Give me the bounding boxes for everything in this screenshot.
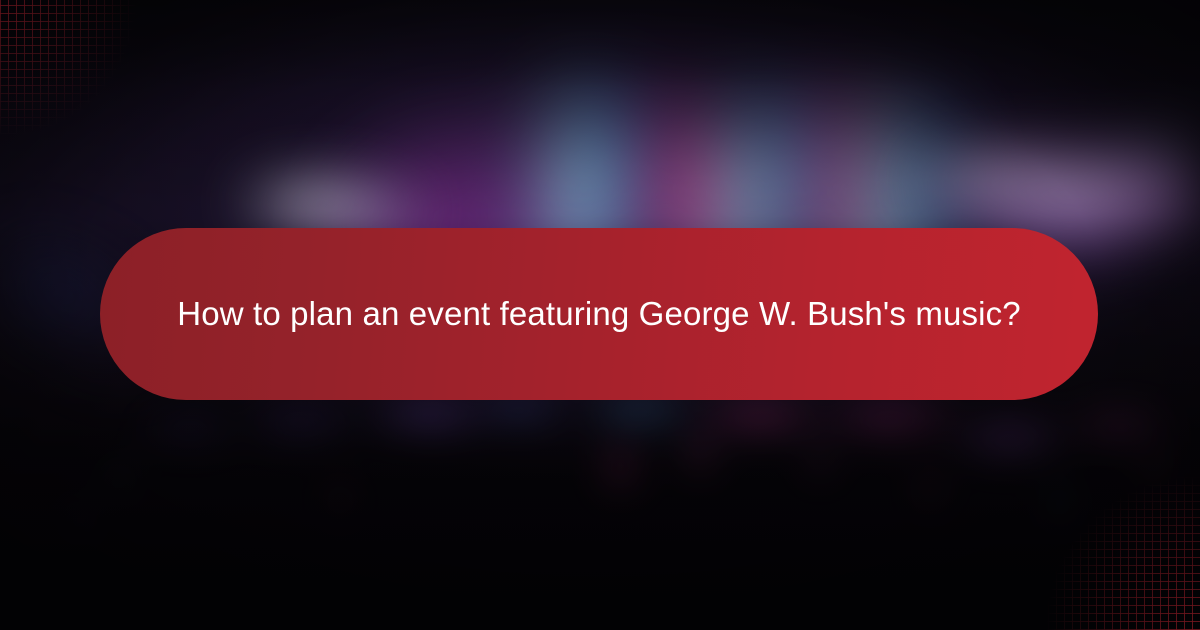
social-card: How to plan an event featuring George W.… (0, 0, 1200, 630)
page-title: How to plan an event featuring George W.… (160, 287, 1038, 341)
corner-grid-top-left (0, 0, 150, 150)
corner-grid-bottom-right (1040, 470, 1200, 630)
headline-pill: How to plan an event featuring George W.… (100, 228, 1098, 400)
